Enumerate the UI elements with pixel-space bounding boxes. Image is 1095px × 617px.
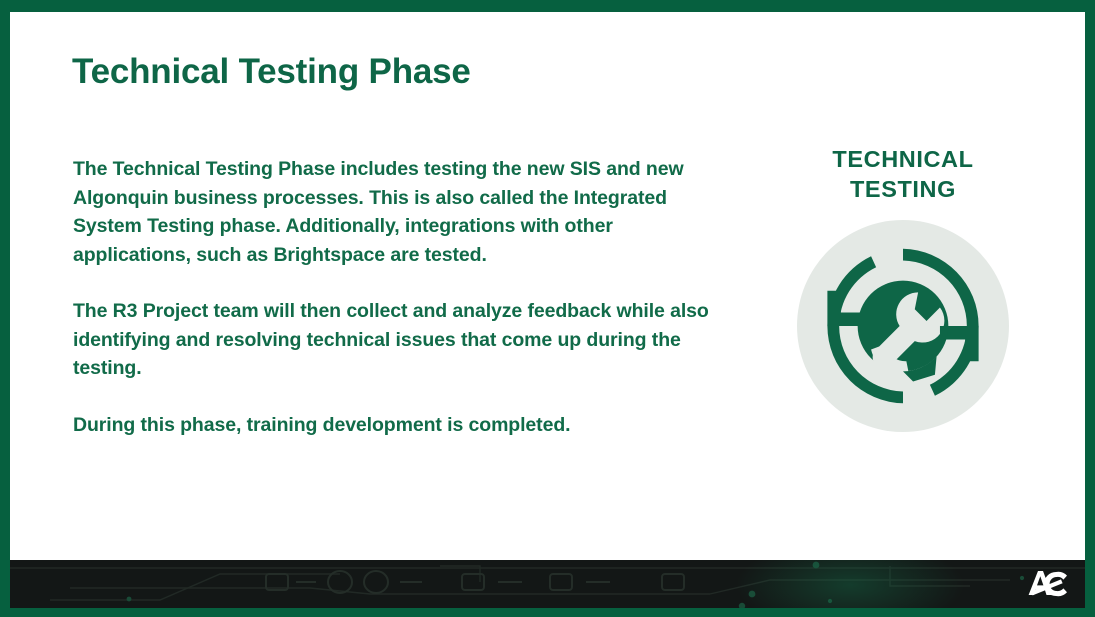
algonquin-college-ac-logo	[1025, 567, 1071, 601]
graphic-heading: TECHNICAL TESTING	[772, 144, 1034, 204]
paragraph-3: During this phase, training development …	[73, 411, 713, 440]
page-title: Technical Testing Phase	[72, 52, 471, 92]
slide: Technical Testing Phase The Technical Te…	[0, 0, 1095, 617]
footer-banner	[10, 560, 1085, 608]
sync-wrench-icon	[819, 242, 987, 410]
paragraph-2: The R3 Project team will then collect an…	[73, 297, 713, 383]
body-copy: The Technical Testing Phase includes tes…	[73, 155, 713, 439]
slide-canvas: Technical Testing Phase The Technical Te…	[10, 12, 1085, 608]
sync-wrench-icon-wrap	[797, 220, 1009, 432]
technical-testing-graphic: TECHNICAL TESTING	[772, 144, 1034, 432]
circuit-pattern-icon	[10, 560, 1085, 608]
paragraph-1: The Technical Testing Phase includes tes…	[73, 155, 713, 269]
